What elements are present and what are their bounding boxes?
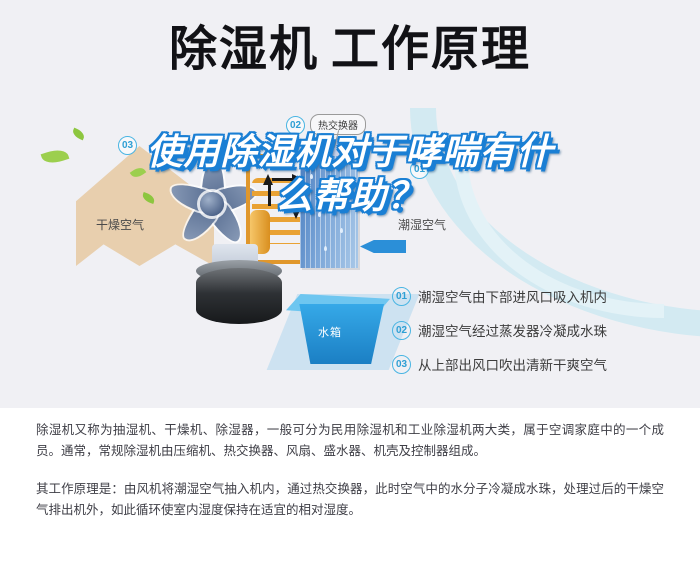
page-root: 除湿机工作原理 — [0, 0, 700, 566]
legend-row: 02 潮湿空气经过蒸发器冷凝成水珠 — [392, 320, 692, 340]
overlay-headline-line2: 么帮助？ — [0, 174, 700, 218]
compressor-drum — [196, 268, 282, 324]
article-body: 除湿机又称为抽湿机、干燥机、除湿器，一般可分为民用除湿机和工业除湿机两大类，属于… — [36, 420, 664, 521]
hero-infographic: 除湿机工作原理 — [0, 0, 700, 408]
legend-row: 03 从上部出风口吹出清新干爽空气 — [392, 354, 692, 374]
page-title-part2: 工作原理 — [331, 23, 531, 76]
legend-text-02: 潮湿空气经过蒸发器冷凝成水珠 — [418, 320, 607, 340]
process-legend: 01 潮湿空气由下部进风口吸入机内 02 潮湿空气经过蒸发器冷凝成水珠 03 从… — [392, 286, 692, 388]
legend-badge-02: 02 — [392, 321, 411, 340]
page-title: 除湿机工作原理 — [0, 26, 700, 74]
legend-badge-03: 03 — [392, 355, 411, 374]
paragraph-2: 其工作原理是：由风机将潮湿空气抽入机内，通过热交换器，此时空气中的水分子冷凝成水… — [36, 479, 664, 521]
condensate-drop — [324, 246, 327, 251]
legend-text-03: 从上部出风口吹出清新干爽空气 — [418, 354, 607, 374]
legend-badge-01: 01 — [392, 287, 411, 306]
page-title-part1: 除湿机 — [169, 23, 319, 76]
paragraph-1: 除湿机又称为抽湿机、干燥机、除湿器，一般可分为民用除湿机和工业除湿机两大类，属于… — [36, 420, 664, 462]
condensate-drop — [340, 228, 343, 233]
water-tank-label: 水箱 — [318, 324, 342, 340]
callout-label-humid-air: 潮湿空气 — [398, 216, 446, 233]
humid-air-inlet-arrow — [360, 240, 406, 253]
overlay-headline-line1: 使用除湿机对于哮喘有什 — [0, 130, 700, 174]
legend-row: 01 潮湿空气由下部进风口吸入机内 — [392, 286, 692, 306]
overlay-headline: 使用除湿机对于哮喘有什 么帮助？ — [0, 130, 700, 218]
callout-label-dry-air: 干燥空气 — [96, 216, 144, 233]
legend-text-01: 潮湿空气由下部进风口吸入机内 — [418, 286, 607, 306]
